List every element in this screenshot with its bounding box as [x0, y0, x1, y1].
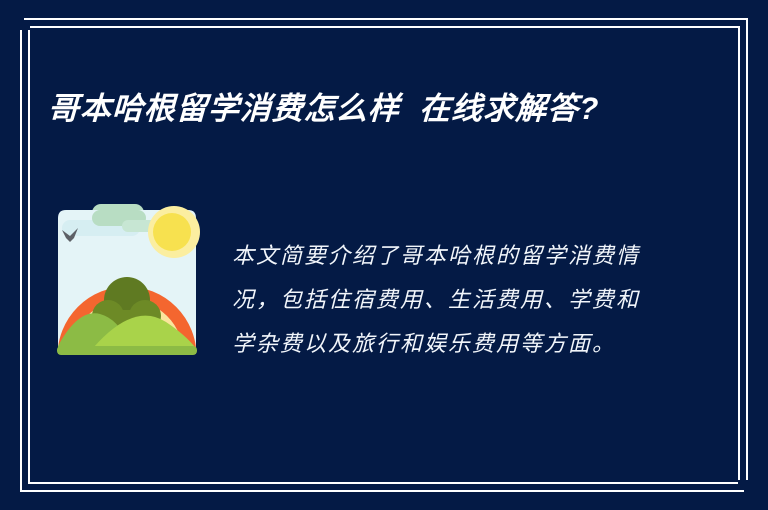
poster-canvas: 哥本哈根留学消费怎么样 在线求解答? — [0, 0, 768, 510]
page-title: 哥本哈根留学消费怎么样 在线求解答? — [47, 83, 669, 135]
sun-icon — [148, 206, 200, 258]
frame-corner-mask-bottom-right-horizontal — [738, 480, 768, 486]
frame-corner-mask-top-left-vertical — [18, 0, 24, 30]
frame-corner-mask-top-left-horizontal — [0, 24, 30, 30]
article-summary: 本文简要介绍了哥本哈根的留学消费情况，包括住宿费用、生活费用、学费和学杂费以及旅… — [232, 234, 652, 366]
rainbow-landscape-illustration — [48, 196, 208, 360]
frame-corner-mask-bottom-right-vertical — [744, 480, 750, 510]
ground-strip — [57, 346, 197, 355]
